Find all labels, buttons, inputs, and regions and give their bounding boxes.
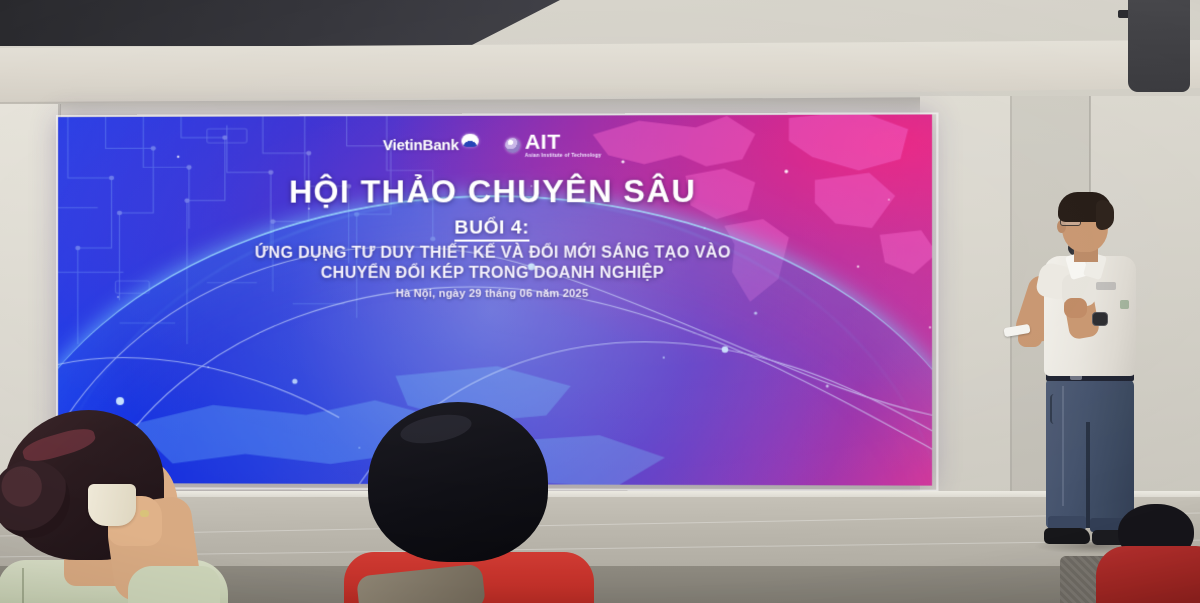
audience-member-3 [1096,520,1200,603]
slide-subtitle-line-1: ỨNG DỤNG TƯ DUY THIẾT KẾ VÀ ĐỔI MỚI SÁNG… [58,243,932,264]
photo-scene: VietinBank AIT Asian Institute of Techno… [0,0,1200,603]
slide-session-label: BUỔI 4: [58,216,932,239]
presenter-sleeve-logo [1120,300,1129,309]
presenter-right-hand [1064,298,1087,318]
slide-date-line: Hà Nội, ngày 29 tháng 06 năm 2025 [58,288,932,300]
slide-title: HỘI THẢO CHUYÊN SÂU [58,172,932,211]
audience-3-top [1096,546,1200,603]
audience-member-2 [330,402,630,603]
presenter-wristwatch [1092,312,1108,326]
vietinbank-logo: VietinBank [383,137,479,154]
audience-member-1 [0,404,318,603]
audience-1-cup [88,484,136,526]
slide-logo-row: VietinBank AIT Asian Institute of Techno… [58,130,932,159]
ait-logo: AIT Asian Institute of Technology [505,131,601,158]
slide-subtitle: ỨNG DỤNG TƯ DUY THIẾT KẾ VÀ ĐỔI MỚI SÁNG… [58,243,932,285]
slide-subtitle-line-2: CHUYỂN ĐỔI KÉP TRONG DOANH NGHIỆP [58,264,932,285]
slide-session-text: BUỔI 4: [454,217,529,241]
audience-1-ring [140,510,149,517]
ait-tagline: Asian Institute of Technology [525,153,602,158]
presenter-chest-logo [1096,282,1116,290]
ait-globe-icon [505,138,520,153]
presenter-hair-back [1096,200,1114,230]
vietinbank-wordmark: VietinBank [383,137,459,154]
ceiling-dark-band [0,0,560,46]
wall-column-a [920,96,1012,526]
ait-wordmark: AIT [525,131,561,152]
vietinbank-mark-icon [462,134,479,147]
ceiling-speaker [1128,0,1190,92]
audience-1-sleeve [128,566,220,603]
presenter-trouser-seam [1086,422,1090,528]
presenter [1000,190,1180,550]
audience-1-top-seam [22,568,24,603]
presenter-pocket [1050,394,1068,424]
presenter-shoe-left [1044,528,1090,544]
